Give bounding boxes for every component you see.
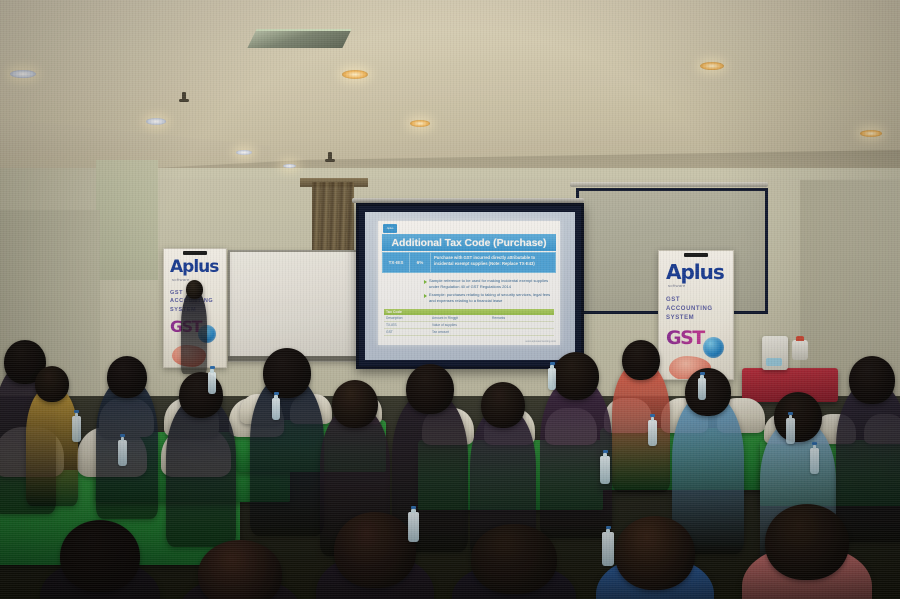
slide-taxcode-row: TX-IES 6% Purchase with GST incurred dir… xyxy=(382,252,556,273)
water-bottle xyxy=(786,418,795,444)
bottle-cap xyxy=(700,372,705,375)
water-bottle xyxy=(698,378,706,400)
projector-screen: Aplus Additional Tax Code (Purchase) TX-… xyxy=(356,203,584,369)
banner-tagline: ACCOUNTING xyxy=(666,305,733,314)
attendee-front-2-head xyxy=(198,540,282,599)
attendee-10-head xyxy=(622,340,660,380)
banner-top-rail xyxy=(183,251,207,255)
bottle-cap xyxy=(274,392,279,395)
attendee-4 xyxy=(166,397,236,547)
presenter-head xyxy=(186,280,203,299)
water-bottle xyxy=(272,398,280,420)
slide-table-row: GSTTax amount xyxy=(384,329,554,336)
secondary-screen-rail xyxy=(570,182,768,187)
wall-pillar-upper xyxy=(96,160,158,280)
attendee-front-6-head xyxy=(765,504,849,580)
bottle-cap xyxy=(788,412,793,415)
water-bottle xyxy=(600,456,610,484)
bottle-cap xyxy=(606,526,611,529)
slide-bullet-list: Sample reference to be used for making i… xyxy=(384,278,555,306)
banner-tagline: GST xyxy=(666,296,733,305)
attendee-8-head xyxy=(481,382,525,428)
bottle-cap xyxy=(550,362,555,365)
ceiling-downlight-icon xyxy=(700,62,724,70)
slide-table-row: TX-IESValue of supplies xyxy=(384,322,554,329)
water-bottle xyxy=(810,448,819,474)
attendee-10 xyxy=(612,362,670,492)
slide-table-cell: Value of supplies xyxy=(432,323,492,327)
slide-bullet: Example: purchases relating to taking of… xyxy=(424,292,555,304)
water-bottle xyxy=(72,416,81,442)
water-bottle xyxy=(118,440,127,466)
attendee-9-head xyxy=(553,352,599,400)
slide-footer: www.aplusaccounting.com xyxy=(525,340,556,343)
attendee-2 xyxy=(26,386,78,506)
banner-right-taglines: GSTACCOUNTINGSYSTEM xyxy=(666,296,733,323)
ceiling-downlight-icon xyxy=(410,120,430,127)
banner-right-brand: Aplus xyxy=(666,262,733,282)
projection-surface: Aplus Additional Tax Code (Purchase) TX-… xyxy=(365,212,575,360)
globe-icon xyxy=(703,337,724,358)
attendee-11-head xyxy=(685,368,731,416)
ceiling-downlight-icon xyxy=(236,150,252,155)
kettle-icon xyxy=(792,340,808,360)
ceiling-downlight-icon xyxy=(283,164,296,168)
slide-table-header-label: Tax Code xyxy=(386,310,402,314)
attendee-3-head xyxy=(107,356,147,398)
water-bottle xyxy=(548,368,556,390)
bottle-cap xyxy=(120,434,125,437)
attendee-13 xyxy=(836,382,900,542)
attendee-7-head xyxy=(406,364,454,414)
attendee-6-head xyxy=(332,380,378,428)
ceiling-downlight-icon xyxy=(342,70,368,79)
slide-table-cell: TX-IES xyxy=(384,323,432,327)
slide-table-cell: Amount in Ringgit xyxy=(432,316,492,320)
attendee-13-head xyxy=(849,356,895,404)
seminar-room-photo: Aplus Additional Tax Code (Purchase) TX-… xyxy=(0,0,900,599)
water-bottle xyxy=(408,512,419,542)
ceiling-downlight-icon xyxy=(10,70,36,78)
attendee-12-head xyxy=(774,392,822,442)
roll-up-banner-right: Aplus software GSTACCOUNTINGSYSTEM GST xyxy=(658,250,734,380)
water-bottle xyxy=(602,532,614,566)
sprinkler-head-icon xyxy=(182,92,186,101)
banner-left-brand: Aplus xyxy=(170,259,226,276)
slide-table-row: DescriptionAmount in RinggitRemarks xyxy=(384,315,554,322)
water-bottle xyxy=(648,420,657,446)
ceiling-downlight-icon xyxy=(146,118,166,125)
slide-taxcode-description: Purchase with GST incurred directly attr… xyxy=(431,253,555,272)
bottle-cap xyxy=(603,450,608,453)
presenter xyxy=(181,290,207,374)
bottle-cap xyxy=(210,366,215,369)
slide-taxcode-rate: 6% xyxy=(410,253,431,272)
banner-tagline: SYSTEM xyxy=(666,314,733,323)
air-conditioning-vent-icon xyxy=(247,29,351,48)
slide-taxcode-code: TX-IES xyxy=(383,253,410,272)
presentation-slide: Aplus Additional Tax Code (Purchase) TX-… xyxy=(378,221,560,345)
slide-title: Additional Tax Code (Purchase) xyxy=(382,234,556,251)
bottle-cap xyxy=(650,414,655,417)
attendee-5-head xyxy=(263,348,311,398)
slide-table-cell: Description xyxy=(384,316,432,320)
attendee-front-4-head xyxy=(471,524,557,594)
slide-table-cell: Remarks xyxy=(492,316,554,320)
bottle-cap xyxy=(812,442,817,445)
attendee-front-5-head xyxy=(615,516,695,590)
slide-table-cell: Tax amount xyxy=(432,330,492,334)
slide-example-table: Tax Code DescriptionAmount in RinggitRem… xyxy=(384,309,554,336)
water-bottle xyxy=(208,372,216,394)
bottle-cap xyxy=(411,506,416,509)
attendee-2-head xyxy=(35,366,69,402)
water-dispenser xyxy=(762,336,788,370)
slide-bullet: Sample reference to be used for making i… xyxy=(424,278,555,290)
bottle-cap xyxy=(74,410,79,413)
attendee-front-3-head xyxy=(334,512,416,588)
whiteboard xyxy=(228,250,362,362)
attendee-front-1-head xyxy=(60,520,140,592)
banner-top-rail xyxy=(684,253,708,257)
attendee-3 xyxy=(96,379,158,519)
attendee-5 xyxy=(250,376,324,536)
slide-table-body: DescriptionAmount in RinggitRemarksTX-IE… xyxy=(384,315,554,336)
attendee-4-head xyxy=(179,372,223,418)
sprinkler-head-icon xyxy=(328,152,332,161)
slide-logo-icon: Aplus xyxy=(383,224,397,233)
slide-table-cell: GST xyxy=(384,330,432,334)
ceiling-downlight-icon xyxy=(860,130,882,137)
